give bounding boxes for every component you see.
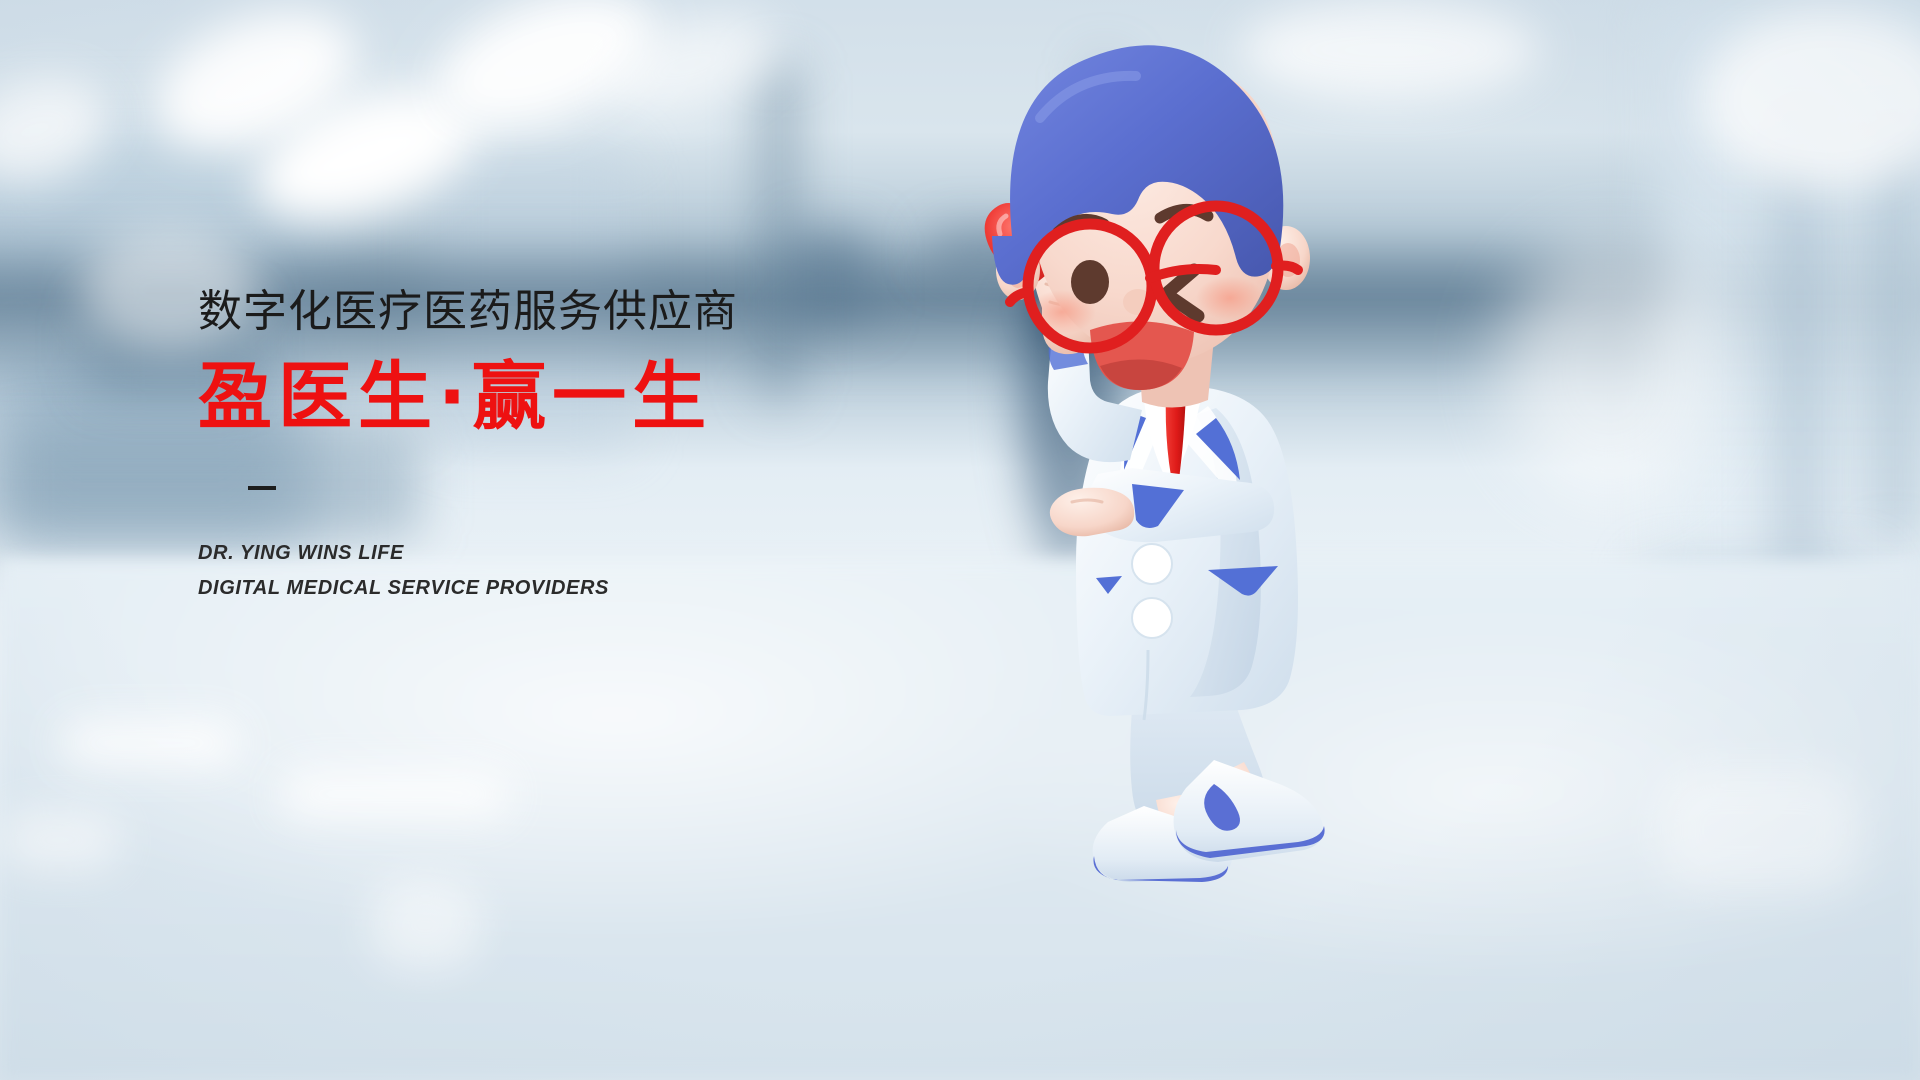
subtitle-line-1: DR. YING WINS LIFE xyxy=(198,536,1018,571)
divider xyxy=(248,486,276,490)
character-shoes xyxy=(1093,760,1325,882)
hero-copy: 数字化医疗医药服务供应商 盈医生·赢一生 DR. YING WINS LIFE … xyxy=(198,290,1018,606)
character-eye-open xyxy=(1071,260,1109,304)
hero-banner: 数字化医疗医药服务供应商 盈医生·赢一生 DR. YING WINS LIFE … xyxy=(0,0,1920,1080)
character-head xyxy=(992,45,1310,390)
subtitle-line-2: DIGITAL MEDICAL SERVICE PROVIDERS xyxy=(198,571,1018,606)
slogan: 盈医生·赢一生 xyxy=(198,360,1018,434)
doctor-mascot-illustration xyxy=(980,40,1400,870)
page-title: 数字化医疗医药服务供应商 xyxy=(198,290,1018,334)
subtitle-group: DR. YING WINS LIFE DIGITAL MEDICAL SERVI… xyxy=(198,536,1018,606)
